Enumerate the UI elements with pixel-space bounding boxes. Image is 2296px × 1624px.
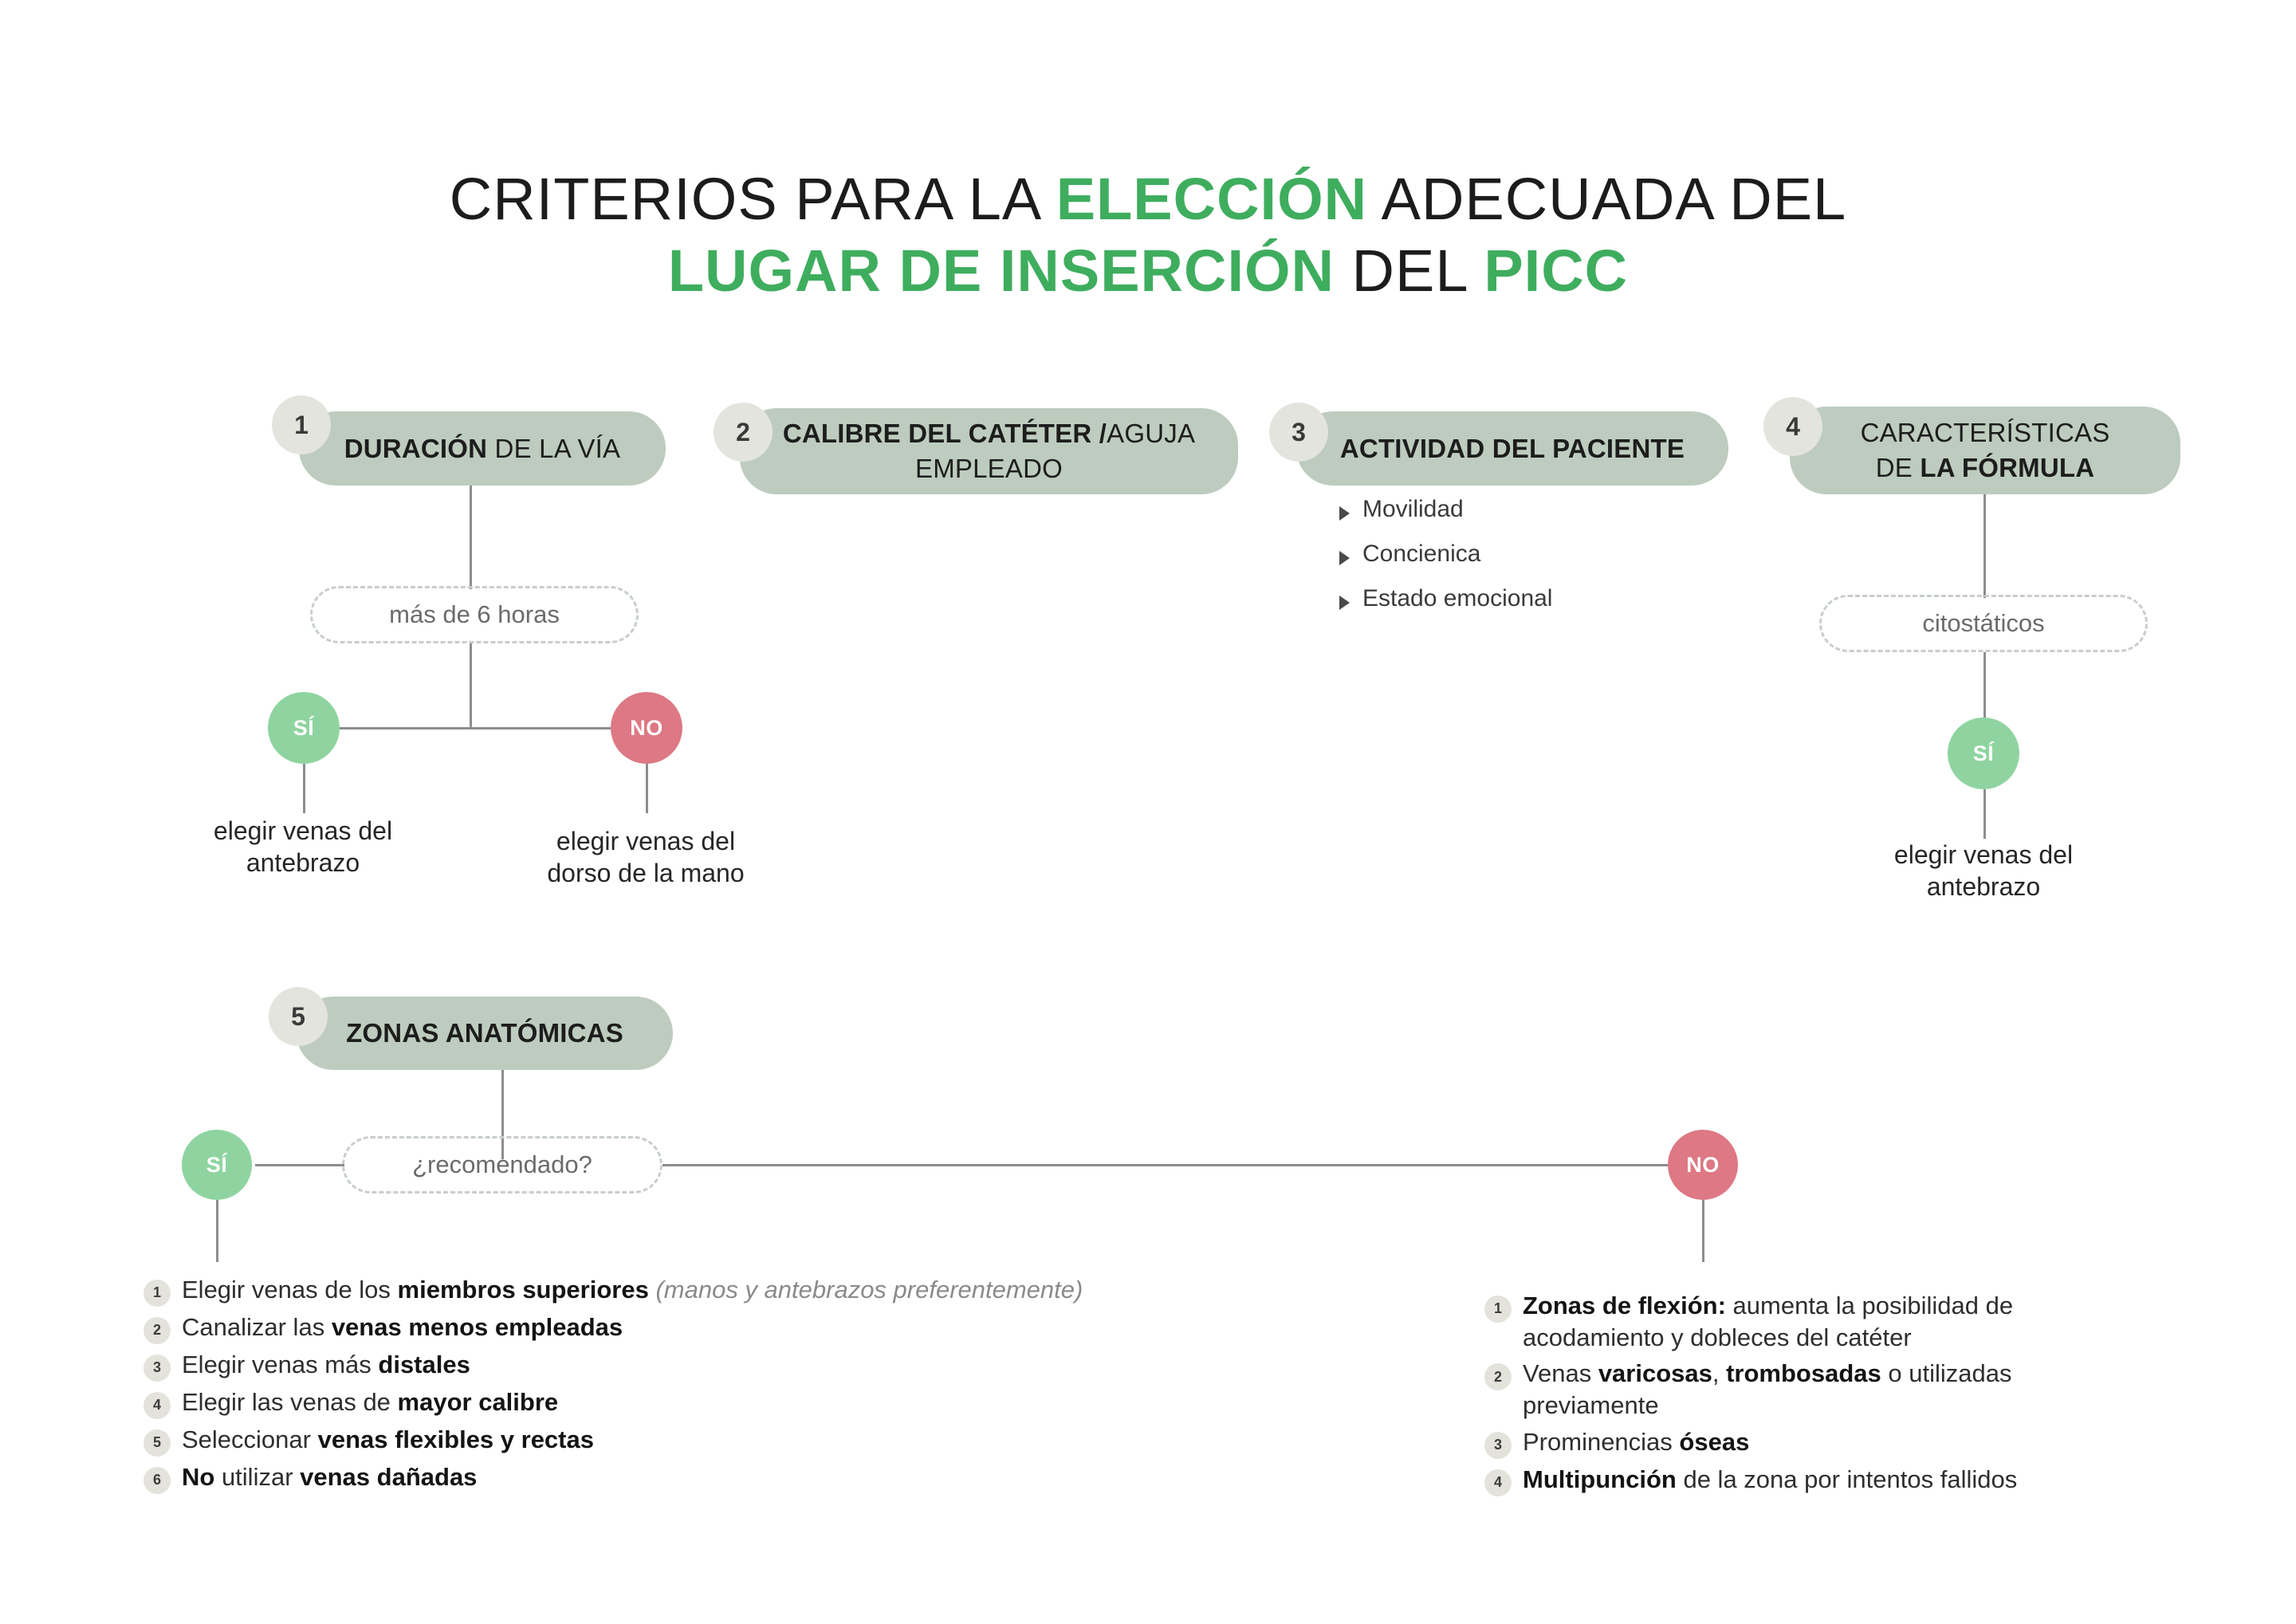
criterion-1-yes-result-line1: elegir venas del: [214, 816, 392, 845]
activity-bullet-item: Estado emocional: [1339, 585, 1706, 612]
criterion-4-label: CARACTERÍSTICAS DE LA FÓRMULA: [1810, 415, 2160, 485]
triangle-bullet-icon: [1339, 596, 1350, 610]
criterion-3-badge: 3: [1269, 403, 1328, 462]
connector-5-yes-stem: [216, 1200, 218, 1262]
criterion-4-yes-circle[interactable]: SÍ: [1948, 718, 2019, 789]
criterion-1-no-result: elegir venas del dorso de la mano: [506, 825, 785, 890]
criterion-5-yes-circle[interactable]: SÍ: [182, 1130, 252, 1200]
criterion-1-label: DURACIÓN DE LA VÍA: [320, 431, 645, 466]
list-item: 2Canalizar las venas menos empleadas: [143, 1311, 1196, 1344]
criterion-4-label-bold: LA FÓRMULA: [1920, 453, 2094, 482]
list-item: 1Zonas de flexión: aumenta la posibilida…: [1484, 1290, 2090, 1353]
criterion-4-badge: 4: [1763, 397, 1822, 456]
triangle-bullet-icon: [1339, 506, 1350, 521]
list-item: 3Elegir venas más distales: [143, 1349, 1196, 1382]
list-item: 4Multipunción de la zona por intentos fa…: [1484, 1464, 2090, 1496]
criterion-4-pill[interactable]: CARACTERÍSTICAS DE LA FÓRMULA: [1790, 407, 2180, 494]
activity-bullet-label: Concienica: [1362, 541, 1480, 568]
list-item-text: Seleccionar venas flexibles y rectas: [182, 1424, 594, 1456]
criterion-3-pill[interactable]: ACTIVIDAD DEL PACIENTE: [1296, 411, 1728, 486]
page-title: CRITERIOS PARA LA ELECCIÓN ADECUADA DEL …: [0, 163, 2296, 308]
criterion-4-result-line1: elegir venas del: [1894, 840, 2073, 869]
title-part-2: ADECUADA DEL: [1367, 166, 1846, 232]
list-item-number: 6: [143, 1467, 171, 1494]
criterion-1-pill[interactable]: DURACIÓN DE LA VÍA: [299, 411, 666, 486]
criterion-1-yes-result: elegir venas del antebrazo: [163, 815, 442, 879]
activity-bullet-item: Concienica: [1339, 541, 1706, 568]
title-line-2: LUGAR DE INSERCIÓN DEL PICC: [0, 235, 2296, 307]
list-item-number: 1: [143, 1280, 171, 1307]
activity-bullet-list: Movilidad Concienica Estado emocional: [1339, 496, 1706, 630]
connector-1-stem: [470, 486, 472, 589]
criterion-1-no-result-line1: elegir venas del: [556, 827, 735, 855]
title-highlight-picc: PICC: [1484, 238, 1628, 304]
criterion-4-label-light: CARACTERÍSTICAS: [1861, 418, 2110, 447]
connector-4-down: [1983, 652, 1986, 725]
criterion-5-pill[interactable]: ZONAS ANATÓMICAS: [297, 997, 673, 1070]
connector-5-no-stem: [1702, 1200, 1704, 1262]
criterion-1-yes-circle[interactable]: SÍ: [268, 692, 340, 764]
list-item-number: 3: [143, 1355, 171, 1382]
criterion-5-label: ZONAS ANATÓMICAS: [317, 1016, 652, 1051]
criterion-1-yes-result-line2: antebrazo: [246, 848, 360, 877]
not-recommended-list: 1Zonas de flexión: aumenta la posibilida…: [1484, 1290, 2090, 1501]
list-item-number: 5: [143, 1429, 171, 1457]
criterion-4-result-line2: antebrazo: [1927, 872, 2040, 901]
title-line-1: CRITERIOS PARA LA ELECCIÓN ADECUADA DEL: [0, 163, 2296, 235]
title-part-3: DEL: [1335, 238, 1484, 304]
title-highlight-eleccion: ELECCIÓN: [1056, 166, 1367, 232]
triangle-bullet-icon: [1339, 551, 1350, 565]
connector-1-down: [470, 643, 472, 729]
connector-5-no-link: [662, 1164, 1669, 1166]
list-item-number: 2: [1484, 1363, 1512, 1390]
list-item-text: Elegir venas de los miembros superiores …: [182, 1274, 1083, 1306]
criterion-1-condition: más de 6 horas: [310, 586, 639, 643]
recommended-list: 1Elegir venas de los miembros superiores…: [143, 1274, 1196, 1499]
list-item-number: 4: [143, 1392, 171, 1419]
list-item-number: 4: [1484, 1469, 1512, 1496]
list-item-text: Zonas de flexión: aumenta la posibilidad…: [1523, 1290, 2090, 1353]
criterion-1-badge: 1: [272, 395, 331, 454]
criterion-2-label: CALIBRE DEL CATÉTER /AGUJA EMPLEADO: [761, 416, 1217, 486]
criterion-4-result: elegir venas del antebrazo: [1844, 839, 2123, 903]
list-item: 3Prominencias óseas: [1484, 1426, 2090, 1459]
criterion-1-label-bold: DURACIÓN: [344, 434, 487, 463]
list-item-text: Multipunción de la zona por intentos fal…: [1523, 1464, 2017, 1496]
title-part-1: CRITERIOS PARA LA: [450, 166, 1056, 232]
criterion-4-label-light2: DE: [1876, 453, 1921, 482]
infographic-canvas: CRITERIOS PARA LA ELECCIÓN ADECUADA DEL …: [0, 0, 2296, 1624]
criterion-1-no-result-line2: dorso de la mano: [547, 859, 744, 887]
list-item-text: No utilizar venas dañadas: [182, 1461, 477, 1493]
list-item-text: Elegir venas más distales: [182, 1349, 470, 1381]
list-item: 4Elegir las venas de mayor calibre: [143, 1386, 1196, 1419]
criterion-5-label-bold: ZONAS ANATÓMICAS: [346, 1018, 623, 1048]
connector-4-yes-stem: [1983, 789, 1986, 839]
criterion-5-no-circle[interactable]: NO: [1668, 1130, 1738, 1200]
criterion-5-condition: ¿recomendado?: [342, 1136, 662, 1193]
criterion-1-label-light: DE LA VÍA: [487, 434, 620, 463]
criterion-5-badge: 5: [269, 987, 328, 1046]
title-highlight-lugar: LUGAR DE INSERCIÓN: [668, 238, 1335, 304]
list-item: 6No utilizar venas dañadas: [143, 1461, 1196, 1494]
connector-4-stem: [1983, 494, 1986, 598]
list-item: 1Elegir venas de los miembros superiores…: [143, 1274, 1196, 1307]
criterion-3-label: ACTIVIDAD DEL PACIENTE: [1317, 431, 1708, 466]
connector-5-yes-link: [255, 1164, 344, 1166]
activity-bullet-label: Estado emocional: [1362, 585, 1552, 612]
criterion-4-condition: citostáticos: [1819, 595, 2148, 652]
criterion-3-label-text: ACTIVIDAD DEL PACIENTE: [1340, 434, 1685, 463]
list-item-text: Venas varicosas, trombosadas o utilizada…: [1523, 1358, 2090, 1421]
list-item: 5Seleccionar venas flexibles y rectas: [143, 1424, 1196, 1457]
list-item-text: Prominencias óseas: [1523, 1426, 1749, 1458]
criterion-1-no-circle[interactable]: NO: [611, 692, 682, 764]
list-item-number: 2: [143, 1317, 171, 1344]
list-item-number: 1: [1484, 1296, 1512, 1323]
connector-1-split: [313, 727, 646, 729]
criterion-2-label-bold: CALIBRE DEL CATÉTER /: [783, 419, 1107, 448]
connector-1-no-stem: [646, 764, 648, 813]
connector-1-yes-stem: [303, 764, 305, 813]
criterion-2-pill[interactable]: CALIBRE DEL CATÉTER /AGUJA EMPLEADO: [740, 408, 1238, 494]
list-item-text: Canalizar las venas menos empleadas: [182, 1311, 623, 1343]
list-item: 2Venas varicosas, trombosadas o utilizad…: [1484, 1358, 2090, 1421]
list-item-text: Elegir las venas de mayor calibre: [182, 1386, 558, 1418]
activity-bullet-item: Movilidad: [1339, 496, 1706, 523]
list-item-number: 3: [1484, 1432, 1512, 1459]
activity-bullet-label: Movilidad: [1362, 496, 1464, 523]
criterion-2-badge: 2: [714, 403, 773, 462]
